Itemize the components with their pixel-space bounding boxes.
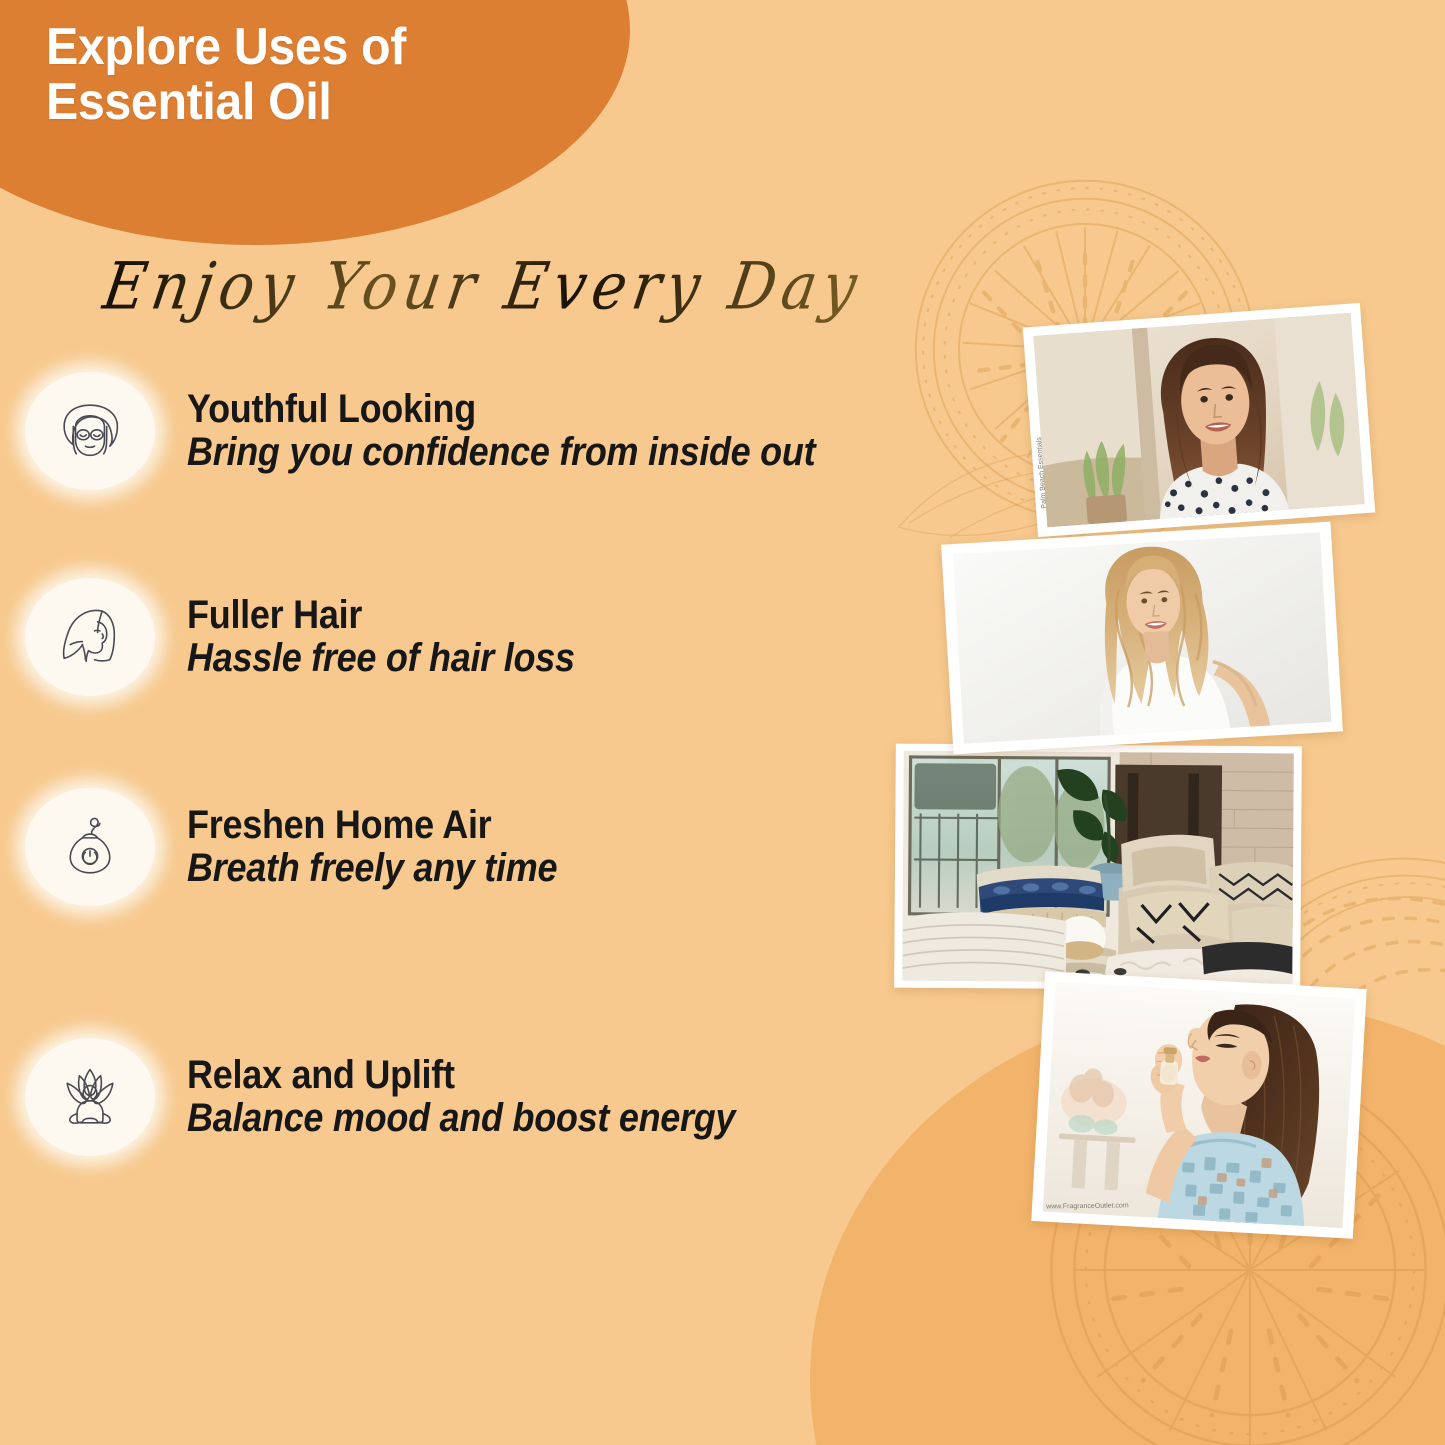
benefit-text-block: Youthful Looking Bring you confidence fr…	[187, 388, 885, 475]
benefit-row-youthful-looking: Youthful Looking Bring you confidence fr…	[0, 372, 885, 490]
benefit-subtitle: Hassle free of hair loss	[187, 636, 575, 681]
page-title: Explore Uses of Essential Oil	[46, 20, 406, 130]
infographic-canvas: Explore Uses of Essential Oil Enjoy Your…	[0, 0, 1445, 1445]
photo-watermark: www.FragranceOutlet.com	[1046, 1202, 1129, 1210]
photo-blonde-wavy-hair	[941, 522, 1343, 755]
benefit-row-freshen-home-air: Freshen Home Air Breath freely any time	[0, 788, 598, 906]
benefit-text-block: Freshen Home Air Breath freely any time	[187, 804, 598, 891]
photo-living-room-diffuser	[894, 744, 1302, 991]
benefit-title: Relax and Uplift	[187, 1054, 735, 1096]
benefit-text-block: Relax and Uplift Balance mood and boost …	[187, 1054, 796, 1141]
benefit-title: Youthful Looking	[187, 388, 815, 430]
photo-smiling-woman: Palm Beach Essentials	[1023, 303, 1375, 537]
benefit-text-block: Fuller Hair Hassle free of hair loss	[187, 594, 618, 681]
lotus-meditation-icon	[25, 1038, 155, 1156]
face-mask-icon	[25, 372, 155, 490]
long-hair-profile-icon	[25, 578, 155, 696]
benefit-title: Freshen Home Air	[187, 804, 557, 846]
benefit-subtitle: Breath freely any time	[187, 846, 557, 891]
benefit-row-relax-and-uplift: Relax and Uplift Balance mood and boost …	[0, 1038, 796, 1156]
benefit-row-fuller-hair: Fuller Hair Hassle free of hair loss	[0, 578, 618, 696]
aroma-diffuser-icon	[25, 788, 155, 906]
benefit-subtitle: Balance mood and boost energy	[187, 1096, 735, 1141]
tagline: Enjoy Your Every Day	[98, 248, 868, 324]
benefit-subtitle: Bring you confidence from inside out	[187, 430, 815, 475]
benefit-title: Fuller Hair	[187, 594, 575, 636]
photo-woman-applying-fragrance: www.FragranceOutlet.com	[1031, 971, 1366, 1239]
